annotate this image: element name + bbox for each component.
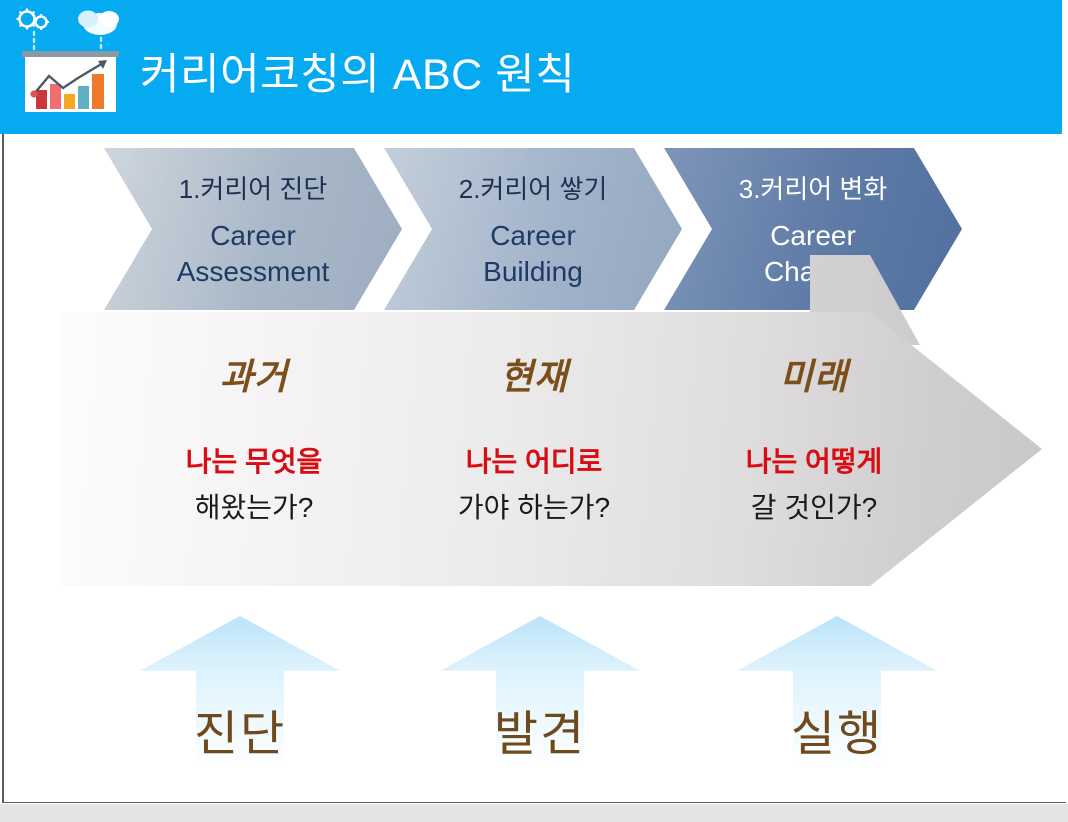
timeline-question-rest-future: 갈 것인가? bbox=[751, 486, 877, 526]
timeline-title-future: 미래 bbox=[780, 348, 848, 400]
timeline-question-highlight-present: 나는 어디로 bbox=[466, 440, 603, 480]
stage-2-en-line1: Career bbox=[483, 218, 583, 254]
gears-icon bbox=[17, 9, 50, 31]
timeline-title-past: 과거 bbox=[220, 348, 288, 400]
timeline-question-rest-past: 해왔는가? bbox=[195, 486, 314, 526]
timeline-cell-future: 미래 나는 어떻게 갈 것인가? bbox=[664, 312, 964, 586]
page-bottom-strip bbox=[0, 804, 1068, 822]
stage-2-en-label: Career Building bbox=[483, 218, 583, 290]
page-title: 커리어코칭의 ABC 원칙 bbox=[140, 40, 575, 102]
cloud-icon bbox=[78, 11, 119, 36]
dotted-connectors bbox=[34, 32, 101, 52]
action-item-3[interactable]: 실행 bbox=[737, 600, 937, 780]
stage-chevron-1[interactable]: 1.커리어 진단 Career Assessment bbox=[104, 148, 402, 310]
stage-1-kr-label: 1.커리어 진단 bbox=[179, 169, 328, 206]
slide-canvas: 커리어코칭의 ABC 원칙 1.커리어 진단 Career Assessment… bbox=[0, 0, 1068, 822]
timeline-cell-present: 현재 나는 어디로 가야 하는가? bbox=[384, 312, 684, 586]
timeline-question-rest-present: 가야 하는가? bbox=[458, 486, 610, 526]
stage-2-en-line2: Building bbox=[483, 254, 583, 290]
timeline-cell-past: 과거 나는 무엇을 해왔는가? bbox=[104, 312, 404, 586]
action-arrow-row: 진단 발견 실행 bbox=[0, 600, 1068, 800]
stage-chevron-2[interactable]: 2.커리어 쌓기 Career Building bbox=[384, 148, 682, 310]
action-label-3: 실행 bbox=[737, 694, 937, 764]
action-label-2: 발견 bbox=[440, 694, 640, 764]
timeline-question-highlight-future: 나는 어떻게 bbox=[746, 440, 883, 480]
logo-svg bbox=[8, 2, 136, 124]
timeline-title-present: 현재 bbox=[500, 348, 568, 400]
action-item-1[interactable]: 진단 bbox=[140, 600, 340, 780]
stage-1-en-line2: Assessment bbox=[177, 254, 330, 290]
stage-1-en-label: Career Assessment bbox=[177, 218, 330, 290]
timeline-question-highlight-past: 나는 무엇을 bbox=[186, 440, 323, 480]
stage-1-en-line1: Career bbox=[177, 218, 330, 254]
stage-3-kr-label: 3.커리어 변화 bbox=[739, 169, 888, 206]
stage-2-kr-label: 2.커리어 쌓기 bbox=[459, 169, 608, 206]
stage-chevron-row: 1.커리어 진단 Career Assessment 2.커리어 쌓기 Care… bbox=[0, 148, 1068, 310]
header-banner: 커리어코칭의 ABC 원칙 bbox=[0, 0, 1062, 134]
action-item-2[interactable]: 발견 bbox=[440, 600, 640, 780]
action-label-1: 진단 bbox=[140, 694, 340, 764]
logo-badge bbox=[8, 2, 136, 124]
stage-3-en-line1: Career bbox=[764, 218, 862, 254]
